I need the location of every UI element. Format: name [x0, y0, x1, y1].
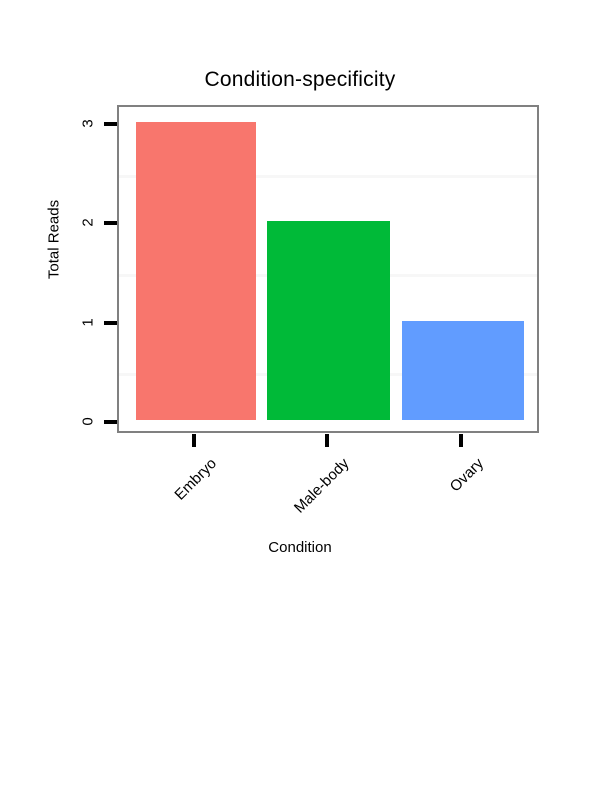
chart-figure: Condition-specificity Total Reads 0123 E… [0, 0, 600, 600]
bar-ovary [402, 321, 524, 420]
x-axis-title: Condition [0, 539, 600, 556]
x-tick-mark [459, 434, 463, 447]
y-tick-mark [104, 122, 117, 126]
x-tick-label-embryo: Embryo [61, 455, 220, 614]
chart-title: Condition-specificity [0, 68, 600, 92]
y-tick-label: 2 [80, 213, 97, 233]
y-tick-mark [104, 221, 117, 225]
y-axis-title: Total Reads [46, 180, 63, 300]
y-tick-mark [104, 420, 117, 424]
bar-male-body [267, 221, 390, 420]
x-tick-label-male-body: Male-body [100, 455, 353, 708]
y-tick-label: 1 [80, 312, 97, 332]
y-tick-label: 0 [80, 412, 97, 432]
x-tick-mark [325, 434, 329, 447]
x-tick-label-ovary: Ovary [139, 455, 487, 803]
plot-panel [117, 105, 539, 433]
y-tick-label: 3 [80, 114, 97, 134]
bar-embryo [136, 122, 256, 420]
x-tick-mark [192, 434, 196, 447]
y-tick-mark [104, 321, 117, 325]
